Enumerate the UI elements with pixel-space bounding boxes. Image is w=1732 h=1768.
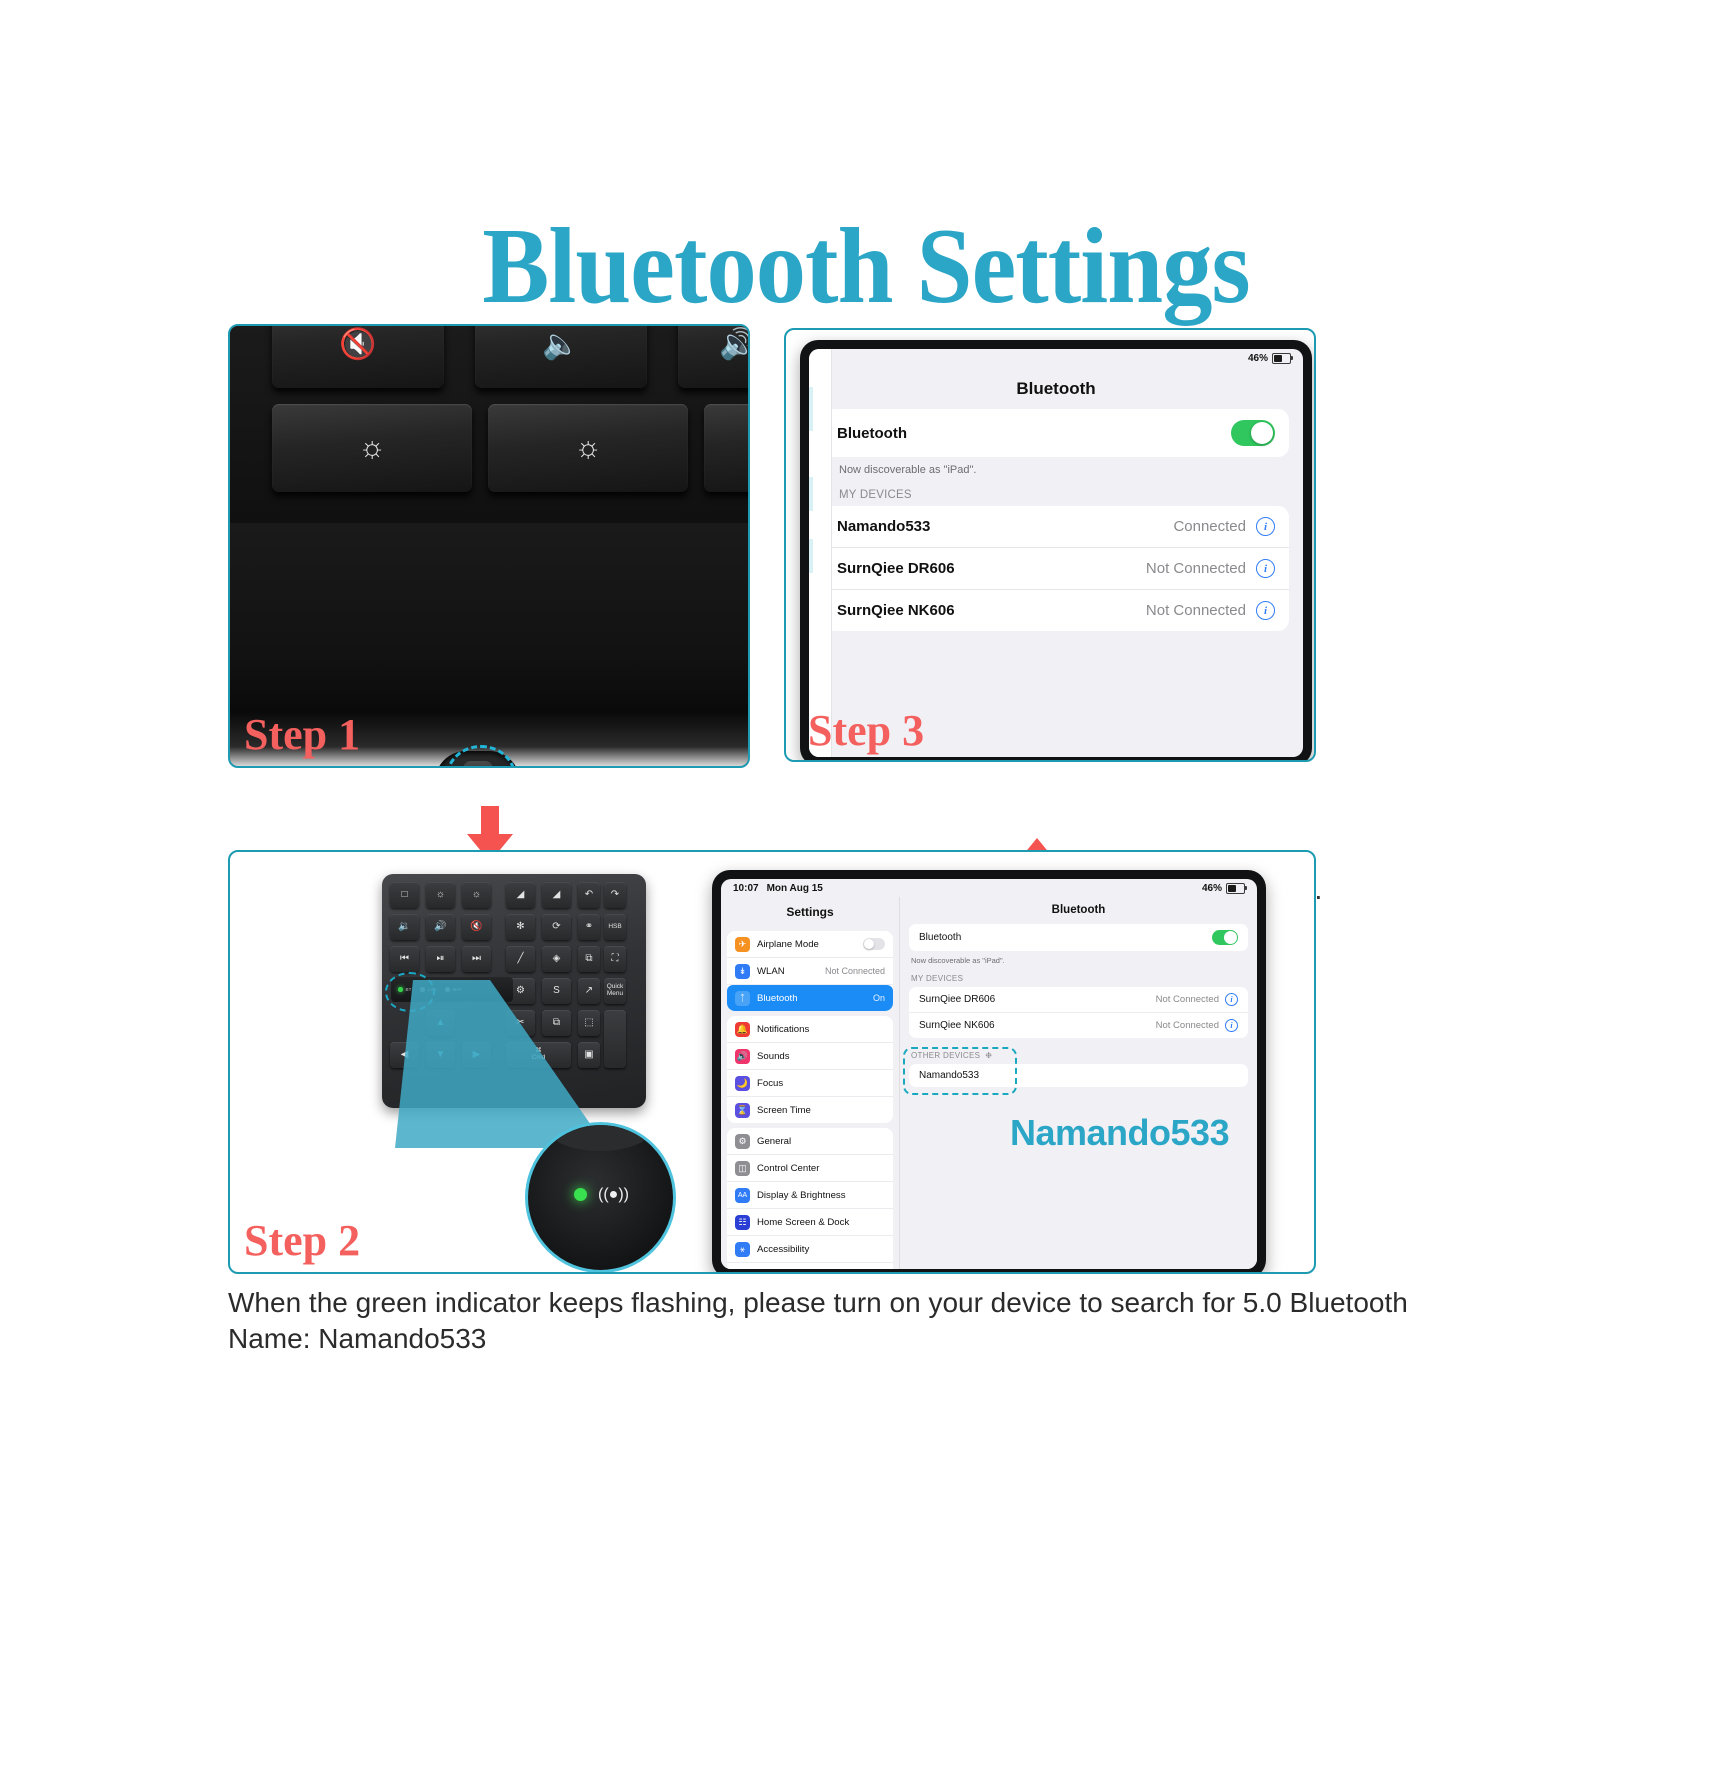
sidebar-item-label: Home Screen & Dock (757, 1217, 849, 1228)
bluetooth-toggle-card: Bluetooth (823, 409, 1289, 457)
key-prev-track-icon: ⏮ (390, 946, 419, 972)
key-snowflake-icon: ✻ (506, 914, 535, 940)
step3-label: Step 3 (808, 705, 924, 756)
airplane-mode-toggle[interactable] (863, 938, 885, 950)
bluetooth-wave-icon: ((●)) (598, 1186, 629, 1204)
volume-mute-icon: 🔇 (272, 330, 444, 360)
key-brush-icon: ╱ (506, 946, 535, 972)
sidebar-item-notifications[interactable]: 🔔 Notifications (727, 1016, 893, 1043)
settings-split-view: Settings ✈ Airplane Mode ↡ WLAN Not Conn… (721, 897, 1257, 1269)
key-kb-light-down-icon: ◢ (506, 882, 535, 908)
switch-on-label: ON (348, 763, 406, 768)
sidebar-item-label: General (757, 1136, 791, 1147)
keyboard-closeup-photo: 🔇 🔈 🔊 ☼ ☼ ON OFF (230, 326, 748, 766)
my-devices-header: MY DEVICES (823, 479, 1289, 506)
home-screen-icon: ☷ (735, 1215, 750, 1230)
infographic-page: Bluetooth Settings 🔇 🔈 🔊 ☼ ☼ (0, 0, 1732, 1768)
step2-caption-line1: When the green indicator keeps flashing,… (228, 1285, 1438, 1321)
battery-percent-label: 46% (1202, 883, 1222, 894)
step2-caption-line2: Name: Namando533 (228, 1321, 1438, 1357)
key-brightness-up: ☼ (488, 404, 688, 492)
switch-highlight-circle (446, 745, 516, 768)
bluetooth-toggle-row[interactable]: Bluetooth (823, 409, 1289, 457)
key-balance-icon: ⚭ (578, 914, 600, 940)
key-hsb: HSB (604, 914, 626, 940)
battery-icon (1226, 883, 1245, 894)
status-bar-step3: 46% (809, 349, 1303, 367)
volume-up-icon: 🔈 (475, 330, 647, 360)
wifi-icon: ↡ (735, 964, 750, 979)
volume-icon: 🔊 (678, 330, 750, 360)
key-eraser-icon: ◈ (542, 946, 571, 972)
key-undo-icon: ↶ (578, 882, 600, 908)
sidebar-item-label: Airplane Mode (757, 939, 819, 950)
bluetooth-detail-pane: Bluetooth Bluetooth Now discoverable as … (900, 897, 1257, 1269)
step1-label: Step 1 (244, 709, 360, 760)
status-time: 10:07 (733, 883, 759, 894)
discoverable-note: Now discoverable as "iPad". (823, 457, 1289, 479)
sidebar-item-value: Not Connected (825, 966, 885, 976)
device-status-wrap: Not Connected i (1156, 993, 1238, 1006)
magnifier-housing (550, 1122, 650, 1151)
sidebar-item-label: Notifications (757, 1024, 809, 1035)
led-magnifier-view: ((●)) (525, 1122, 676, 1273)
status-bar-step2: 10:07 Mon Aug 15 46% (721, 879, 1257, 897)
sidebar-item-airplane-mode[interactable]: ✈ Airplane Mode (727, 931, 893, 958)
info-icon[interactable]: i (1256, 601, 1275, 620)
sidebar-item-accessibility[interactable]: ⚹ Accessibility (727, 1236, 893, 1263)
key-mute-icon: 🔇 (462, 914, 491, 940)
device-status: Not Connected (1156, 1020, 1219, 1031)
key-volume-mute: 🔇 (272, 324, 444, 388)
status-date: Mon Aug 15 (767, 883, 823, 894)
device-name: SurnQiee DR606 (837, 560, 955, 577)
other-devices-list: Namando533 (909, 1064, 1248, 1087)
info-icon[interactable]: i (1225, 993, 1238, 1006)
device-status: Not Connected (1146, 602, 1246, 619)
ipad-screen-step2: 10:07 Mon Aug 15 46% Settings ✈ (721, 879, 1257, 1269)
bluetooth-page-title: Bluetooth (809, 367, 1303, 409)
sidebar-item-wallpaper[interactable]: ❋ Wallpaper (727, 1263, 893, 1269)
sidebar-item-label: Screen Time (757, 1105, 811, 1116)
sidebar-item-general[interactable]: ⚙ General (727, 1128, 893, 1155)
bell-icon: 🔔 (735, 1022, 750, 1037)
sidebar-item-value: On (873, 993, 885, 1003)
status-right: 46% (1202, 883, 1245, 894)
brightness-up-icon: ☼ (488, 433, 688, 463)
sidebar-item-display-brightness[interactable]: AA Display & Brightness (727, 1182, 893, 1209)
key-copy-layers-icon: ⧉ (578, 946, 600, 972)
bluetooth-label: Bluetooth (919, 932, 961, 943)
device-status-wrap: Not Connected i (1146, 601, 1275, 620)
status-right: 46% (1248, 353, 1291, 364)
sidebar-group-connectivity: ✈ Airplane Mode ↡ WLAN Not Connected ᛏ (727, 931, 893, 1011)
key-brightness-up-icon: ☼ (462, 882, 491, 908)
my-devices-list: Namando533 Connected i SurnQiee DR606 No… (823, 506, 1289, 631)
status-left: 10:07 Mon Aug 15 (733, 883, 1202, 894)
device-status: Not Connected (1146, 560, 1246, 577)
rail-segment (809, 387, 813, 431)
device-name: Namando533 (837, 518, 930, 535)
other-devices-label: OTHER DEVICES (911, 1051, 980, 1060)
key-next-track-icon: ⏭ (462, 946, 491, 972)
key-brightness-down-icon: ☼ (426, 882, 455, 908)
sidebar-item-focus[interactable]: 🌙 Focus (727, 1070, 893, 1097)
sidebar-item-label: Bluetooth (757, 993, 798, 1004)
moon-icon: 🌙 (735, 1076, 750, 1091)
other-devices-header: OTHER DEVICES ❉ (900, 1044, 1257, 1064)
bluetooth-detail-title: Bluetooth (900, 897, 1257, 924)
device-row-2[interactable]: SurnQiee NK606 Not Connected i (823, 590, 1289, 631)
sidebar-item-label: Display & Brightness (757, 1190, 846, 1201)
ipad-device-step3: 46% Bluetooth Bluetooth Now discoverable… (800, 340, 1312, 762)
bluetooth-toggle-row-step2[interactable]: Bluetooth (909, 924, 1248, 951)
other-device-row-0[interactable]: Namando533 (909, 1064, 1248, 1087)
sidebar-group-notifications: 🔔 Notifications 🔊 Sounds 🌙 Focus (727, 1016, 893, 1123)
device-row-0[interactable]: SurnQiee DR606 Not Connected i (909, 987, 1248, 1013)
brightness-down-icon: ☼ (272, 433, 472, 463)
device-name: SurnQiee DR606 (919, 994, 995, 1005)
battery-icon (1272, 353, 1291, 364)
bluetooth-label: Bluetooth (837, 425, 907, 442)
bluetooth-icon: ᛏ (735, 991, 750, 1006)
key-redo-icon: ↷ (604, 882, 626, 908)
step2-panel: □ ☼ ☼ ◢ ◢ ↶ ↷ 🔉 🔊 🔇 ✻ ⟳ ⚭ HSB ⏮ ⏯ ⏭ ╱ ◈ … (228, 850, 1316, 1274)
switch-off-label: OFF (524, 763, 601, 768)
bluetooth-toggle-switch[interactable] (1231, 420, 1275, 446)
info-icon[interactable]: i (1225, 1019, 1238, 1032)
device-row-1[interactable]: SurnQiee DR606 Not Connected i (823, 548, 1289, 590)
sound-icon: 🔊 (735, 1049, 750, 1064)
spinner-icon: ❉ (985, 1051, 992, 1060)
hourglass-icon: ⌛ (735, 1103, 750, 1118)
bluetooth-toggle-switch-step2[interactable] (1212, 930, 1238, 945)
device-row-1[interactable]: SurnQiee NK606 Not Connected i (909, 1013, 1248, 1038)
info-icon[interactable]: i (1256, 517, 1275, 536)
rail-segment (809, 477, 813, 511)
sidebar-item-label: Focus (757, 1078, 783, 1089)
sidebar-item-sounds[interactable]: 🔊 Sounds (727, 1043, 893, 1070)
device-row-0[interactable]: Namando533 Connected i (823, 506, 1289, 548)
accessibility-icon: ⚹ (735, 1242, 750, 1257)
ipad-screen-step3: 46% Bluetooth Bluetooth Now discoverable… (809, 349, 1303, 757)
key-kb-light-up-icon: ◢ (542, 882, 571, 908)
discoverable-note-step2: Now discoverable as "iPad". (900, 951, 1257, 967)
device-name-callout: Namando533 (1010, 1112, 1229, 1154)
key-play-pause-icon: ⏯ (426, 946, 455, 972)
sidebar-item-label: Sounds (757, 1051, 790, 1062)
green-indicator-dot-magnified (574, 1188, 587, 1201)
control-center-icon: ◫ (735, 1161, 750, 1176)
sidebar-rail (809, 349, 832, 757)
device-name: SurnQiee NK606 (919, 1020, 995, 1031)
step2-label: Step 2 (244, 1215, 360, 1266)
sidebar-item-label: Control Center (757, 1163, 819, 1174)
settings-title: Settings (721, 897, 899, 926)
sidebar-item-label: Accessibility (757, 1244, 809, 1255)
step3-panel: 46% Bluetooth Bluetooth Now discoverable… (784, 328, 1316, 762)
airplane-icon: ✈ (735, 937, 750, 952)
key-refresh-icon: ⟳ (542, 914, 571, 940)
key-volume-up: 🔈 (475, 324, 647, 388)
bluetooth-toggle-card-step2: Bluetooth (909, 924, 1248, 951)
device-status: Connected (1173, 518, 1246, 535)
sidebar-group-general: ⚙ General ◫ Control Center AA Display & … (727, 1128, 893, 1269)
sidebar-item-home-screen-dock[interactable]: ☷ Home Screen & Dock (727, 1209, 893, 1236)
my-devices-header-step2: MY DEVICES (900, 967, 1257, 987)
rail-segment (809, 539, 813, 573)
display-icon: AA (735, 1188, 750, 1203)
wallpaper-icon: ❋ (735, 1269, 750, 1270)
sidebar-item-label: WLAN (757, 966, 785, 977)
keyboard-keys-area: 🔇 🔈 🔊 ☼ ☼ (230, 326, 748, 523)
step1-panel: 🔇 🔈 🔊 ☼ ☼ ON OFF (228, 324, 750, 768)
settings-sidebar[interactable]: Settings ✈ Airplane Mode ↡ WLAN Not Conn… (721, 897, 900, 1269)
key-fullscreen-icon: ⛶ (604, 946, 626, 972)
battery-percent-label: 46% (1248, 353, 1268, 364)
key-volume-down-icon: 🔉 (390, 914, 419, 940)
my-devices-list-step2: SurnQiee DR606 Not Connected i SurnQiee … (909, 987, 1248, 1038)
device-name: Namando533 (919, 1070, 979, 1081)
device-name: SurnQiee NK606 (837, 602, 955, 619)
key-brightness-down: ☼ (272, 404, 472, 492)
device-status: Not Connected (1156, 994, 1219, 1005)
key-brightness-extra (704, 404, 750, 492)
page-title: Bluetooth Settings (61, 205, 1672, 329)
key-volume-extra: 🔊 (678, 324, 750, 388)
key-home: □ (390, 882, 419, 908)
step2-caption: When the green indicator keeps flashing,… (228, 1285, 1438, 1357)
sidebar-item-screen-time[interactable]: ⌛ Screen Time (727, 1097, 893, 1123)
device-status-wrap: Not Connected i (1156, 1019, 1238, 1032)
sidebar-item-bluetooth[interactable]: ᛏ Bluetooth On (727, 985, 893, 1011)
device-status-wrap: Connected i (1173, 517, 1275, 536)
info-icon[interactable]: i (1256, 559, 1275, 578)
sidebar-item-wlan[interactable]: ↡ WLAN Not Connected (727, 958, 893, 985)
sidebar-item-control-center[interactable]: ◫ Control Center (727, 1155, 893, 1182)
key-volume-up-icon: 🔊 (426, 914, 455, 940)
device-status-wrap: Not Connected i (1146, 559, 1275, 578)
gear-icon: ⚙ (735, 1134, 750, 1149)
ipad-device-step2: 10:07 Mon Aug 15 46% Settings ✈ (712, 870, 1266, 1274)
